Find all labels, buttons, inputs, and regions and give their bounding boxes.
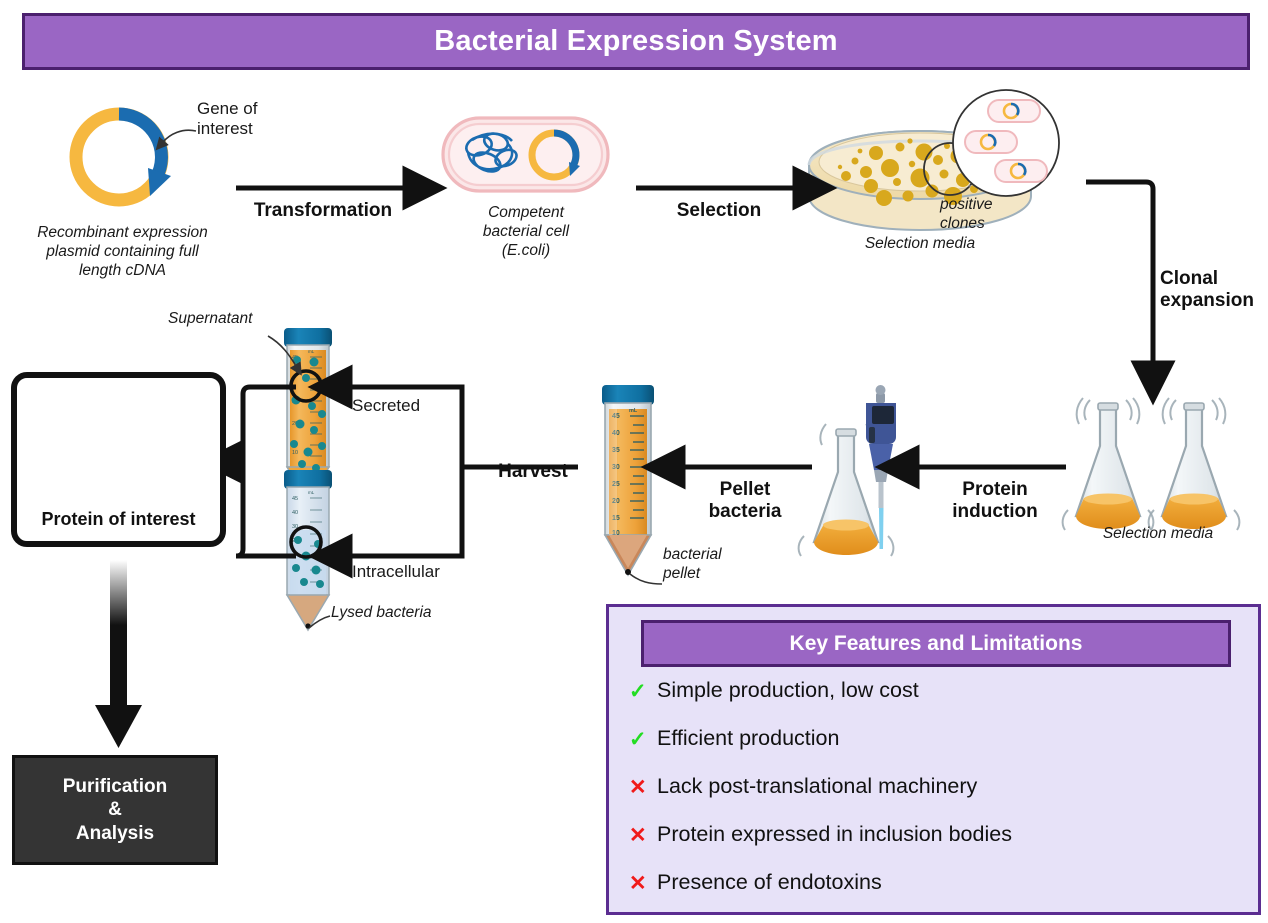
page-title: Bacterial Expression System — [22, 13, 1250, 70]
key-feature-text: Protein expressed in inclusion bodies — [657, 823, 1012, 846]
svg-text:mL: mL — [629, 408, 638, 414]
key-features-panel: Key Features and Limitations ✓Simple pro… — [606, 604, 1261, 915]
cross-icon: ✕ — [629, 871, 657, 896]
svg-text:45: 45 — [292, 496, 298, 502]
shaker-flasks-illustration — [1063, 398, 1240, 530]
diagram-canvas: 4540 3530 2520 1510 mL — [0, 0, 1268, 923]
key-features-header: Key Features and Limitations — [641, 620, 1231, 667]
arrow-label-pellet-bacteria: Pellet bacteria — [680, 479, 810, 524]
supernatant-label: Supernatant — [168, 310, 288, 329]
arrow-label-transformation: Transformation — [228, 200, 418, 222]
arrow-label-harvest: Harvest — [478, 461, 588, 483]
svg-text:40: 40 — [292, 510, 298, 516]
arrow-label-clonal-expansion: Clonal expansion — [1160, 268, 1268, 313]
key-feature-text: Presence of endotoxins — [657, 871, 882, 894]
svg-text:mL: mL — [308, 490, 315, 495]
protein-of-interest-label: Protein of interest — [17, 509, 220, 530]
plasmid-illustration — [76, 114, 196, 200]
pellet-tube-illustration: 4540 3530 2520 1510 mL — [602, 385, 662, 584]
key-features-list: ✓Simple production, low cost✓Efficient p… — [629, 679, 1248, 919]
purification-line-3: Analysis — [63, 822, 168, 845]
key-features-header-text: Key Features and Limitations — [790, 632, 1083, 656]
key-feature-row: ✕Protein expressed in inclusion bodies — [629, 823, 1248, 871]
svg-text:mL: mL — [308, 349, 315, 354]
flasks-media-caption: Selection media — [1058, 525, 1258, 544]
arrow-label-secreted: Secreted — [352, 396, 472, 416]
purification-line-1: Purification — [63, 775, 168, 798]
arrow-label-intracellular: Intracellular — [352, 562, 492, 582]
bacterial-pellet-label: bacterial pellet — [663, 546, 763, 584]
competent-cell-illustration — [443, 118, 608, 191]
lysate-tube-illustration: 4540 3020 mL — [284, 470, 332, 630]
cross-icon: ✕ — [629, 823, 657, 848]
gene-of-interest-label: Gene of interest — [197, 99, 307, 140]
key-feature-row: ✕Presence of endotoxins — [629, 871, 1248, 919]
purification-arrow — [95, 560, 142, 748]
key-feature-text: Lack post-translational machinery — [657, 775, 977, 798]
svg-text:40: 40 — [292, 366, 298, 372]
competent-cell-caption: Competent bacterial cell (E.coli) — [440, 204, 612, 261]
key-feature-text: Simple production, low cost — [657, 679, 919, 702]
svg-text:10: 10 — [292, 450, 298, 456]
key-feature-text: Efficient production — [657, 727, 839, 750]
check-icon: ✓ — [629, 679, 657, 704]
key-feature-row: ✕Lack post-translational machinery — [629, 775, 1248, 823]
check-icon: ✓ — [629, 727, 657, 752]
arrow-label-protein-induction: Protein induction — [920, 479, 1070, 524]
arrow-label-selection: Selection — [640, 200, 798, 222]
selection-media-caption: Selection media — [800, 235, 1040, 254]
key-feature-row: ✓Simple production, low cost — [629, 679, 1248, 727]
page-title-text: Bacterial Expression System — [434, 27, 838, 56]
lysed-bacteria-label: Lysed bacteria — [331, 604, 481, 623]
key-feature-row: ✓Efficient production — [629, 727, 1248, 775]
cross-icon: ✕ — [629, 775, 657, 800]
positive-clones-label: positive clones — [940, 196, 1050, 234]
purification-analysis-box: Purification & Analysis — [12, 755, 218, 865]
purification-analysis-text: Purification & Analysis — [63, 775, 168, 845]
protein-of-interest-box: Protein of interest — [11, 372, 226, 547]
purification-line-2: & — [63, 798, 168, 821]
plasmid-caption: Recombinant expression plasmid containin… — [10, 224, 235, 281]
induction-flask-illustration — [799, 385, 896, 556]
